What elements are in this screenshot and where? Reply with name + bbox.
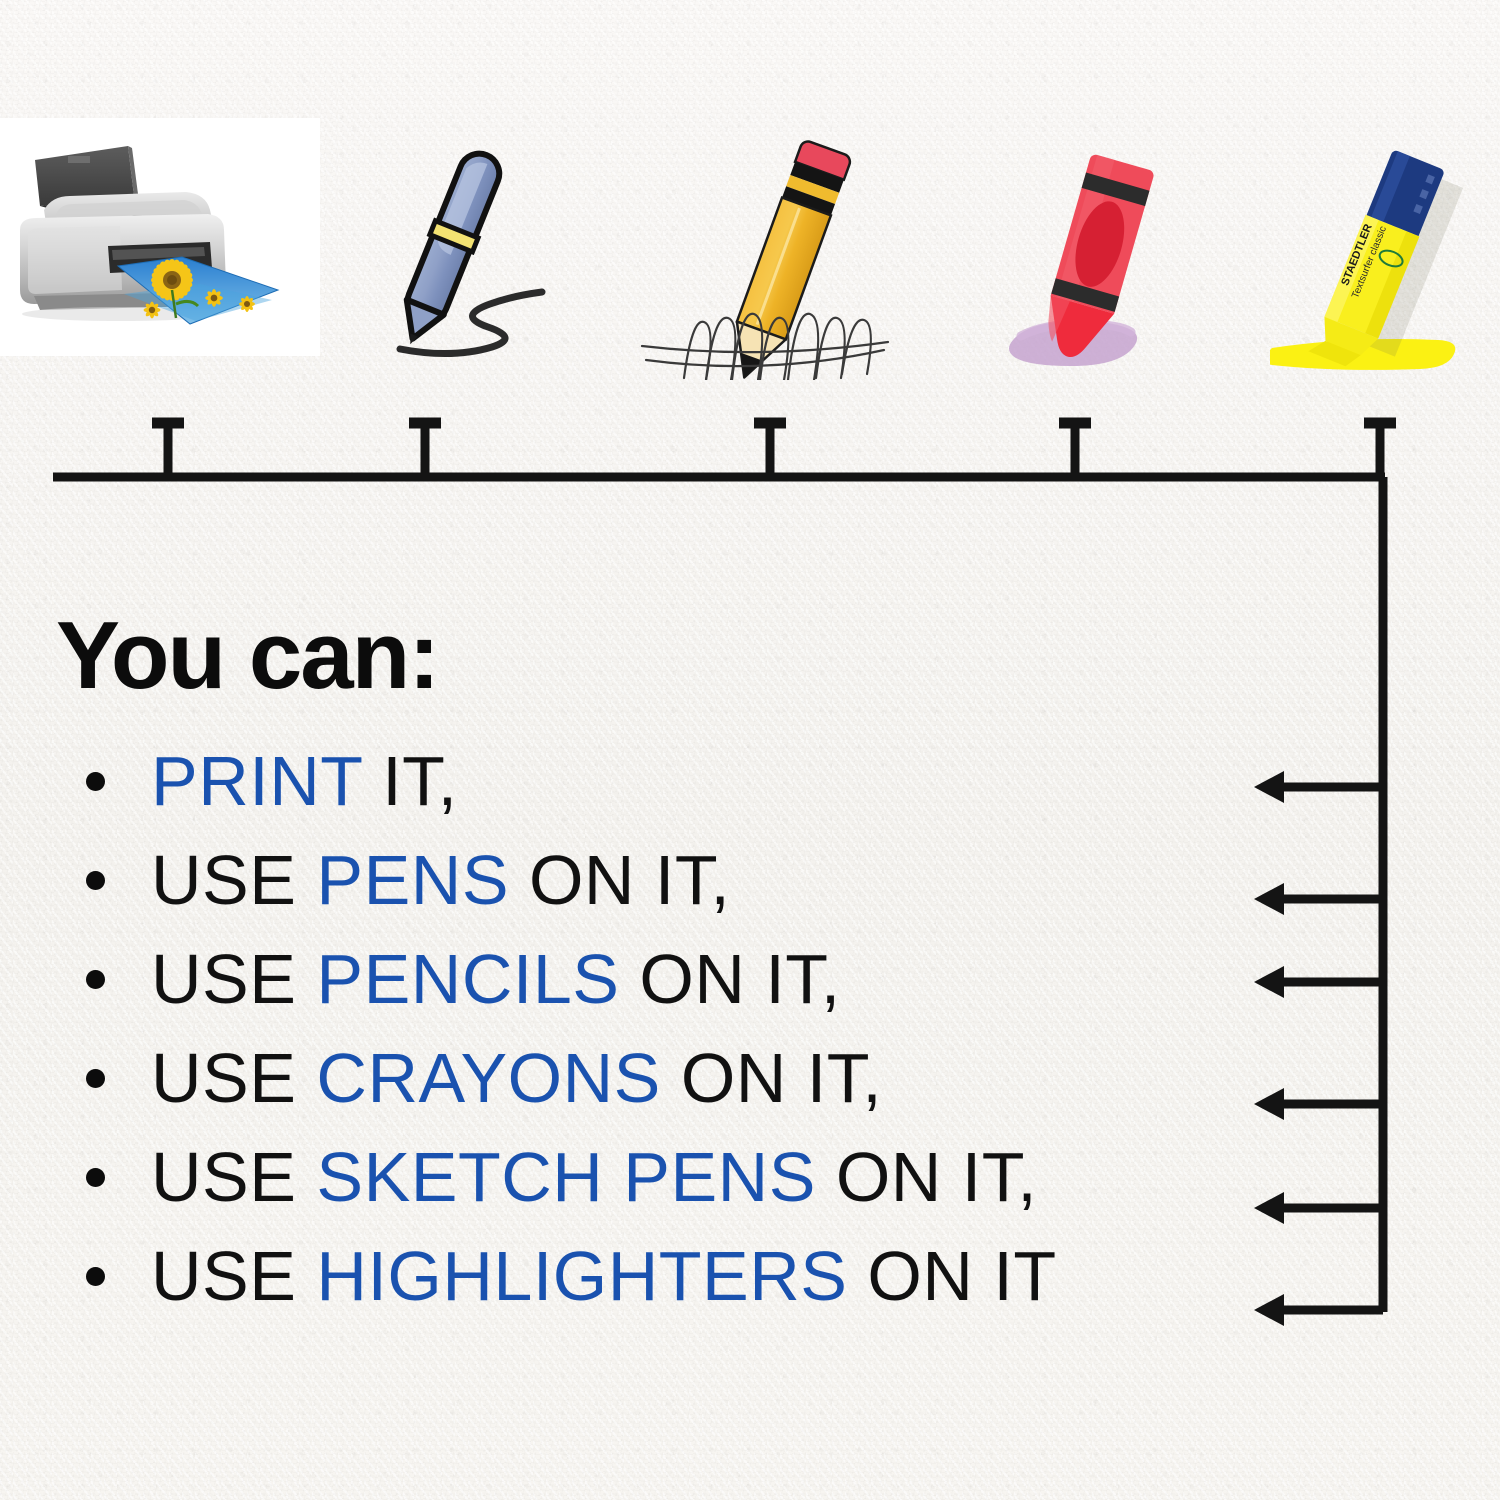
list-item-suffix: ON IT,: [816, 1138, 1037, 1216]
bullet-dot-icon: [86, 1168, 105, 1187]
capabilities-list: PRINT IT, USE PENS ON IT, USE PENCILS ON…: [86, 746, 1286, 1340]
list-item-highlight: PENS: [316, 841, 509, 919]
list-item-prefix: USE: [151, 1039, 316, 1117]
infographic-canvas: STAEDTLER Textsurfer classic: [0, 0, 1500, 1500]
list-item: PRINT IT,: [86, 746, 1286, 845]
list-item-highlight: CRAYONS: [316, 1039, 660, 1117]
list-item-highlight: PENCILS: [316, 940, 619, 1018]
list-item-prefix: USE: [151, 940, 316, 1018]
list-item-prefix: USE: [151, 1237, 316, 1315]
list-item-text: USE PENS ON IT,: [151, 845, 730, 915]
list-item-suffix: ON IT,: [619, 940, 840, 1018]
list-item-prefix: USE: [151, 841, 316, 919]
list-item: USE SKETCH PENS ON IT,: [86, 1142, 1286, 1241]
list-item-text: USE CRAYONS ON IT,: [151, 1043, 882, 1113]
list-item-text: PRINT IT,: [151, 746, 458, 816]
list-item-prefix: USE: [151, 1138, 316, 1216]
list-item-text: USE PENCILS ON IT,: [151, 944, 841, 1014]
bullet-dot-icon: [86, 772, 105, 791]
tick-marks: [168, 421, 1380, 477]
bullet-dot-icon: [86, 1267, 105, 1286]
list-item-highlight: PRINT: [151, 742, 362, 820]
bullet-dot-icon: [86, 1069, 105, 1088]
page-title: You can:: [56, 608, 438, 704]
list-item-suffix: ON IT: [847, 1237, 1056, 1315]
list-item-text: USE HIGHLIGHTERS ON IT: [151, 1241, 1057, 1311]
list-item-text: USE SKETCH PENS ON IT,: [151, 1142, 1037, 1212]
list-item: USE CRAYONS ON IT,: [86, 1043, 1286, 1142]
list-item-highlight: HIGHLIGHTERS: [316, 1237, 847, 1315]
bullet-dot-icon: [86, 871, 105, 890]
list-item-suffix: ON IT,: [509, 841, 730, 919]
list-item: USE PENCILS ON IT,: [86, 944, 1286, 1043]
list-item-suffix: IT,: [362, 742, 457, 820]
list-item-suffix: ON IT,: [661, 1039, 882, 1117]
list-item: USE PENS ON IT,: [86, 845, 1286, 944]
list-item-highlight: SKETCH PENS: [316, 1138, 816, 1216]
bullet-dot-icon: [86, 970, 105, 989]
list-item: USE HIGHLIGHTERS ON IT: [86, 1241, 1286, 1340]
